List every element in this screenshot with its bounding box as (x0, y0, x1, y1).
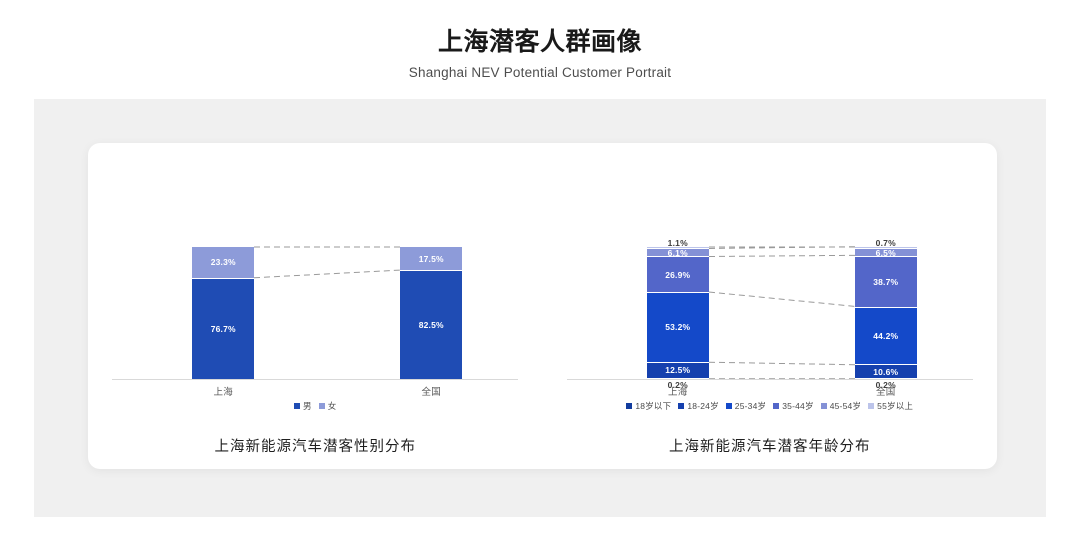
age-stacked-bar-national[interactable]: 0.7%6.5%38.7%44.2%10.6%0.2% (855, 247, 917, 379)
legend-swatch-icon (626, 403, 632, 409)
gender-category-label-national: 全国 (400, 384, 462, 398)
legend-item[interactable]: 35-44岁 (773, 401, 813, 411)
bar-segment[interactable]: 6.5% (855, 248, 917, 257)
age-category-label-shanghai: 上海 (647, 384, 709, 398)
legend-swatch-icon (319, 403, 325, 409)
gender-plot-inner: 23.3%76.7% 17.5%82.5% 上海 全国 (100, 190, 530, 380)
bar-segment[interactable]: 82.5% (400, 270, 462, 379)
bar-segment-value-label: 23.3% (211, 257, 236, 267)
gender-axis-line (112, 379, 518, 380)
bar-segment[interactable]: 10.6% (855, 364, 917, 378)
bar-segment[interactable]: 38.7% (855, 256, 917, 306)
gender-stacked-bar-national[interactable]: 17.5%82.5% (400, 247, 462, 379)
bar-segment[interactable]: 6.1% (647, 248, 709, 256)
gender-plot-area: 23.3%76.7% 17.5%82.5% 上海 全国 (88, 190, 543, 380)
chart-age-distribution: 1.1%6.1%26.9%53.2%12.5%0.2% 0.7%6.5%38.7… (543, 143, 998, 469)
legend-label: 35-44岁 (782, 401, 813, 411)
legend-item[interactable]: 25-34岁 (726, 401, 766, 411)
legend-item[interactable]: 18-24岁 (678, 401, 718, 411)
chart-gender-distribution: 23.3%76.7% 17.5%82.5% 上海 全国 男女 上海新能源汽车潜客… (88, 143, 543, 469)
legend-item[interactable]: 18岁以下 (626, 401, 671, 411)
bar-segment[interactable]: 17.5% (400, 247, 462, 270)
bar-segment-value-label: 53.2% (665, 322, 690, 332)
legend-label: 45-54岁 (830, 401, 861, 411)
gender-category-label-shanghai: 上海 (192, 384, 254, 398)
connector-line (709, 292, 855, 306)
bar-segment-value-label: 82.5% (419, 320, 444, 330)
gender-legend: 男女 (88, 401, 543, 411)
age-plot-inner: 1.1%6.1%26.9%53.2%12.5%0.2% 0.7%6.5%38.7… (555, 190, 985, 380)
legend-swatch-icon (773, 403, 779, 409)
age-legend: 18岁以下18-24岁25-34岁35-44岁45-54岁55岁以上 (543, 401, 998, 411)
age-stacked-bar-shanghai[interactable]: 1.1%6.1%26.9%53.2%12.5%0.2% (647, 247, 709, 379)
legend-item[interactable]: 45-54岁 (821, 401, 861, 411)
age-category-label-national: 全国 (855, 384, 917, 398)
charts-row: 23.3%76.7% 17.5%82.5% 上海 全国 男女 上海新能源汽车潜客… (88, 143, 997, 469)
page-subtitle: Shanghai NEV Potential Customer Portrait (0, 58, 1080, 82)
legend-label: 男 (303, 401, 312, 411)
bar-segment-value-label: 0.7% (876, 238, 896, 248)
bar-segment-value-label: 44.2% (873, 331, 898, 341)
bar-segment-value-label: 17.5% (419, 254, 444, 264)
bar-segment[interactable]: 23.3% (192, 247, 254, 278)
legend-item[interactable]: 女 (319, 401, 337, 411)
bar-segment[interactable]: 76.7% (192, 278, 254, 379)
bar-segment-value-label: 76.7% (211, 324, 236, 334)
legend-label: 18岁以下 (635, 401, 671, 411)
legend-swatch-icon (294, 403, 300, 409)
legend-item[interactable]: 55岁以上 (868, 401, 913, 411)
bar-segment-value-label: 12.5% (665, 365, 690, 375)
connector-line (709, 255, 855, 256)
connector-line (709, 362, 855, 365)
connector-line (254, 270, 400, 278)
age-axis-line (567, 379, 973, 380)
legend-item[interactable]: 男 (294, 401, 312, 411)
legend-swatch-icon (868, 403, 874, 409)
legend-label: 女 (328, 401, 337, 411)
gender-connector-lines (100, 190, 530, 380)
legend-swatch-icon (821, 403, 827, 409)
bar-segment-value-label: 1.1% (668, 238, 688, 248)
gender-chart-caption: 上海新能源汽车潜客性别分布 (88, 435, 543, 456)
bar-segment-value-label: 10.6% (873, 367, 898, 377)
bar-segment[interactable]: 12.5% (647, 362, 709, 378)
gender-stacked-bar-shanghai[interactable]: 23.3%76.7% (192, 247, 254, 379)
legend-label: 25-34岁 (735, 401, 766, 411)
legend-swatch-icon (678, 403, 684, 409)
bar-segment-value-label: 26.9% (665, 270, 690, 280)
bar-segment[interactable]: 44.2% (855, 307, 917, 364)
age-chart-caption: 上海新能源汽车潜客年龄分布 (543, 435, 998, 456)
bar-segment-value-label: 38.7% (873, 277, 898, 287)
legend-label: 18-24岁 (687, 401, 718, 411)
age-connector-lines (555, 190, 985, 380)
legend-label: 55岁以上 (877, 401, 913, 411)
bar-segment[interactable]: 53.2% (647, 292, 709, 362)
legend-swatch-icon (726, 403, 732, 409)
page-title: 上海潜客人群画像 (0, 0, 1080, 58)
connector-line (709, 247, 855, 249)
bar-segment[interactable]: 26.9% (647, 256, 709, 291)
page-header: 上海潜客人群画像 Shanghai NEV Potential Customer… (0, 0, 1080, 82)
age-plot-area: 1.1%6.1%26.9%53.2%12.5%0.2% 0.7%6.5%38.7… (543, 190, 998, 380)
